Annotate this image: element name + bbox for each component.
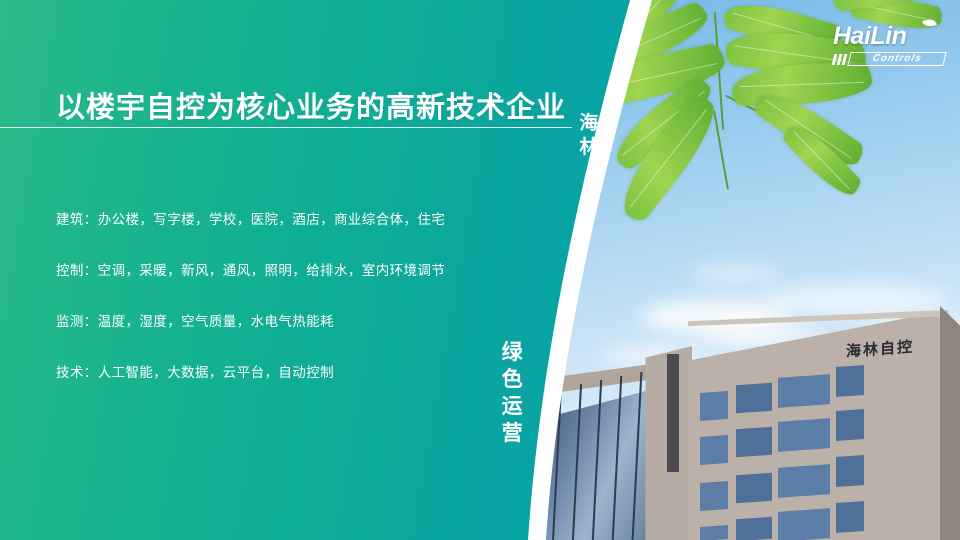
logo-sub-text: Controls <box>871 53 923 64</box>
vertical-tagline-label: 绿 色 运 营 <box>500 340 525 448</box>
logo-wordmark-text: HaiLin <box>833 22 906 50</box>
vertical-tagline-char: 色 <box>500 367 525 394</box>
hailin-controls-logo: HaiLin Controls <box>833 24 945 66</box>
logo-subrow: Controls <box>833 52 945 66</box>
list-item: 控制：空调，采暖，新风，通风，照明，给排水，室内环境调节 <box>56 259 526 279</box>
vertical-tagline-char: 运 <box>500 394 525 421</box>
list-item: 技术：人工智能，大数据，云平台，自动控制 <box>56 361 526 381</box>
vertical-brand-char: 海 <box>578 112 601 136</box>
page-title: 以楼宇自控为核心业务的高新技术企业 <box>56 84 566 126</box>
presentation-slide: 海林自控 以楼宇自控为核心业务的高新技术企业 建筑：办公楼，写字楼，学校，医院，… <box>0 0 960 540</box>
logo-sub-badge: Controls <box>847 52 946 66</box>
list-item: 监测：温度，湿度，空气质量，水电气热能耗 <box>56 310 526 330</box>
vertical-brand-label: 海 林 <box>578 112 601 161</box>
title-divider <box>0 127 572 128</box>
bullet-list: 建筑：办公楼，写字楼，学校，医院，酒店，商业综合体，住宅 控制：空调，采暖，新风… <box>56 208 526 381</box>
vertical-tagline-char: 营 <box>500 421 525 448</box>
vertical-tagline-char: 绿 <box>500 340 525 367</box>
cloud <box>690 265 780 283</box>
list-item: 建筑：办公楼，写字楼，学校，医院，酒店，商业综合体，住宅 <box>56 208 526 228</box>
bars-icon <box>832 54 848 65</box>
side-wall <box>940 306 960 540</box>
vertical-brand-char: 林 <box>578 136 601 160</box>
logo-wordmark: HaiLin <box>833 24 945 49</box>
